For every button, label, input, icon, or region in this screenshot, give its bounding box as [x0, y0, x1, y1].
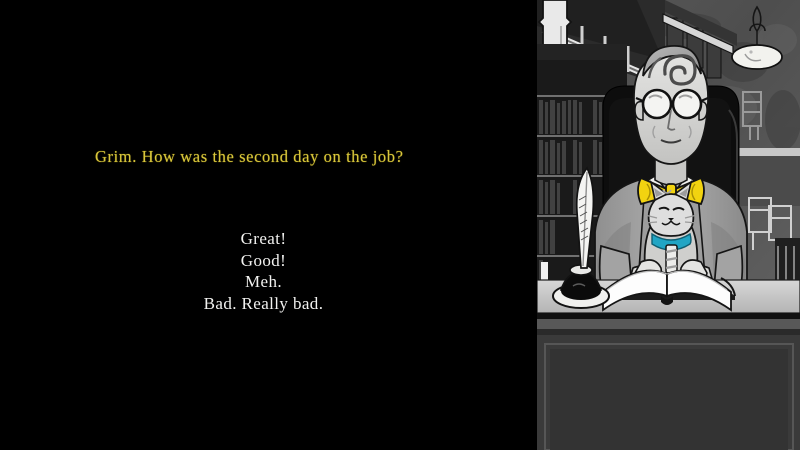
- scene-illustration: [537, 0, 800, 450]
- choice-option-3[interactable]: Meh.: [0, 271, 527, 293]
- choice-option-1[interactable]: Great!: [0, 228, 527, 250]
- scene-artwork: [537, 0, 800, 450]
- choice-menu: Great! Good! Meh. Bad. Really bad.: [0, 228, 527, 314]
- choice-option-2[interactable]: Good!: [0, 250, 527, 272]
- visual-novel-screen: Grim. How was the second day on the job?…: [0, 0, 800, 450]
- dialogue-text: Grim. How was the second day on the job?: [95, 147, 404, 167]
- choice-option-4[interactable]: Bad. Really bad.: [0, 293, 527, 315]
- dialogue-panel: Grim. How was the second day on the job?…: [0, 0, 537, 450]
